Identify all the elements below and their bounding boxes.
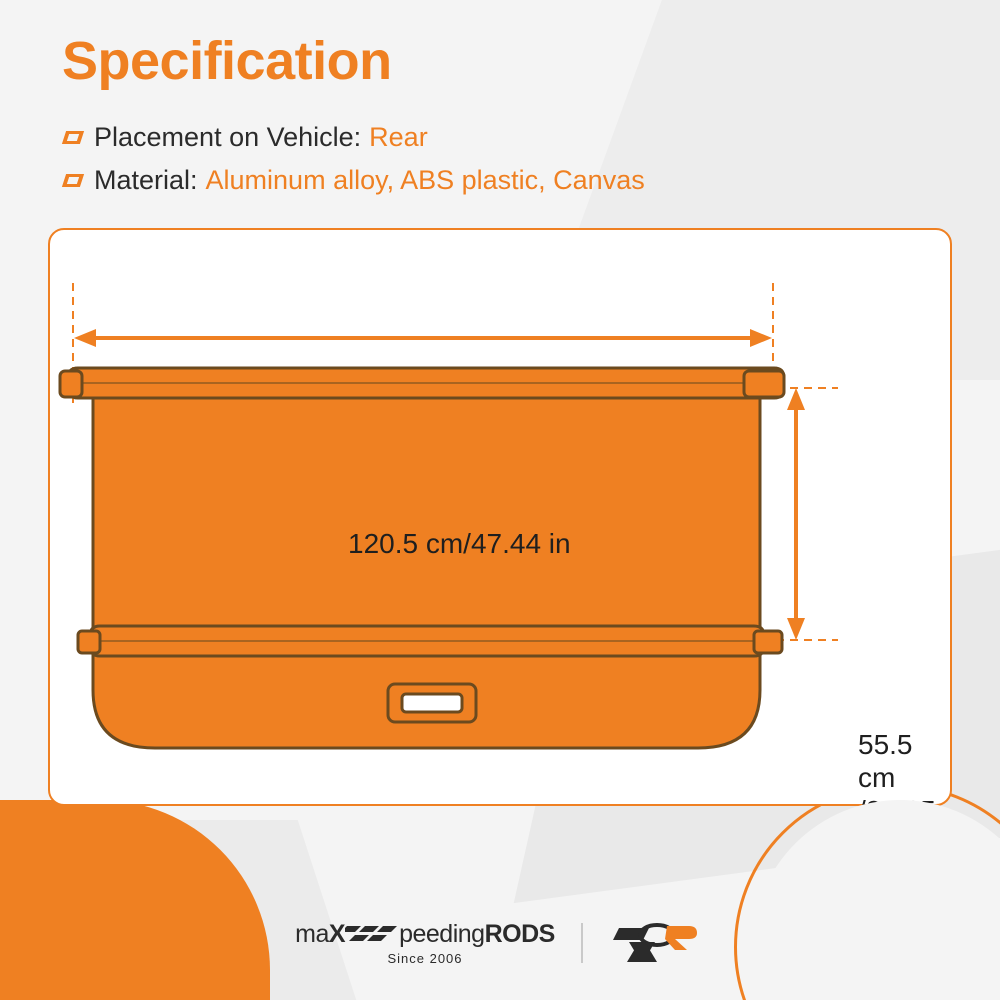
footer-branding: ma X peeding RODS Since 2006 (0, 920, 1000, 966)
brand-prefix: ma (295, 920, 329, 949)
handle-slot-icon (388, 684, 476, 722)
parallelogram-bullet-icon (62, 174, 84, 187)
width-dimension-label: 120.5 cm/47.44 in (348, 528, 571, 560)
spec-value-placement: Rear (369, 122, 428, 153)
brand-x: X (329, 920, 345, 949)
oxr-logo (609, 920, 705, 966)
poster-page: Specification Placement on Vehicle: Rear… (0, 0, 1000, 1000)
spec-label-material: Material: (94, 165, 198, 196)
spec-row-material: Material: Aluminum alloy, ABS plastic, C… (64, 165, 964, 196)
spec-row-placement: Placement on Vehicle: Rear (64, 122, 964, 153)
footer-divider (581, 923, 583, 963)
oxr-mark-icon (609, 920, 705, 966)
height-dimension-line (787, 388, 805, 640)
height-dimension-line1: 55.5 cm (858, 728, 952, 794)
product-diagram: 120.5 cm/47.44 in 55.5 cm /21.85 in (48, 228, 952, 806)
maxpeedingrods-logo: ma X peeding RODS Since 2006 (295, 920, 555, 966)
cargo-cover-drawing (48, 228, 952, 806)
brand-suffix: RODS (485, 920, 555, 949)
spec-value-material: Aluminum alloy, ABS plastic, Canvas (206, 165, 645, 196)
brand-wordmark: ma X peeding RODS (295, 920, 555, 949)
brand-since-label: Since 2006 (387, 951, 462, 966)
brand-mid: peeding (399, 920, 484, 949)
width-dimension-line (74, 329, 772, 347)
parallelogram-bullet-icon (62, 131, 84, 144)
bottom-pull-bar (78, 626, 782, 656)
specification-list: Placement on Vehicle: Rear Material: Alu… (64, 122, 964, 208)
speed-streaks-icon (345, 924, 399, 942)
page-title: Specification (62, 30, 392, 92)
top-roller-bar (60, 368, 784, 398)
spec-label-placement: Placement on Vehicle: (94, 122, 361, 153)
